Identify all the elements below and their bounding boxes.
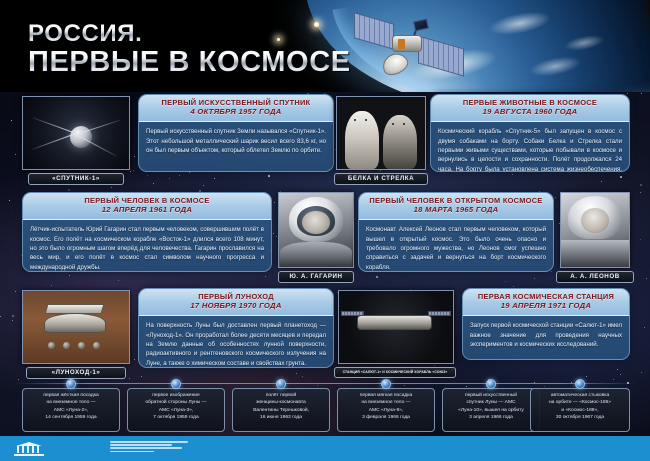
panel-header: ПЕРВЫЙ ЧЕЛОВЕК В ОТКРЫТОМ КОСМОСЕ 18 МАР…: [359, 193, 553, 220]
dog-eye-icon: [365, 119, 367, 121]
dog-belka-icon: [345, 111, 379, 169]
rover-wheel-icon: [48, 342, 55, 349]
timeline-line-1: первая жёсткая посадка: [25, 392, 117, 399]
panel-date: 18 МАРТА 1965 ГОДА: [365, 205, 547, 215]
timeline-marker-icon: [575, 379, 585, 389]
panel-title: ПЕРВЫЙ ЛУНОХОД: [145, 292, 327, 301]
rover-wheel-icon: [63, 342, 70, 349]
imprint-line: [110, 444, 172, 446]
panel-title: ПЕРВЫЙ ЧЕЛОВЕК В ОТКРЫТОМ КОСМОСЕ: [365, 196, 547, 205]
imprint-line: [110, 447, 182, 449]
timeline-card: автоматическая стыковка на орбите — «Кос…: [530, 388, 630, 432]
panel-title: ПЕРВЫЙ ИСКУССТВЕННЫЙ СПУТНИК: [145, 98, 327, 107]
timeline-line-2: обратной стороны Луны —: [130, 399, 222, 406]
panel-date: 12 АПРЕЛЯ 1961 ГОДА: [29, 205, 265, 215]
logo-column: [27, 446, 29, 453]
panel-title: ПЕРВЫЙ ЧЕЛОВЕК В КОСМОСЕ: [29, 196, 265, 205]
spacesuit-icon: [280, 242, 351, 267]
panel-sputnik: ПЕРВЫЙ ИСКУССТВЕННЫЙ СПУТНИК 4 ОКТЯБРЯ 1…: [138, 94, 334, 172]
timeline-line-1: автоматическая стыковка: [533, 392, 627, 399]
imprint-line: [110, 451, 154, 453]
timeline-marker-icon: [381, 379, 391, 389]
panel-header: ПЕРВЫЙ ЧЕЛОВЕК В КОСМОСЕ 12 АПРЕЛЯ 1961 …: [23, 193, 271, 220]
panel-text: Запуск первой космической станции «Салют…: [463, 316, 629, 355]
photo-dogs: [336, 96, 426, 170]
caption-dogs: БЕЛКА И СТРЕЛКА: [334, 173, 428, 185]
timeline-line-3: АМС «Луна-3»,: [130, 407, 222, 414]
timeline-line-1: полёт первой: [235, 392, 327, 399]
imprint-line: [110, 441, 188, 443]
timeline-strip: первая жёсткая посадка на внеземное тело…: [0, 378, 650, 436]
panel-animals: ПЕРВЫЕ ЖИВОТНЫЕ В КОСМОСЕ 19 АВГУСТА 196…: [430, 94, 630, 172]
station-body-icon: [357, 315, 432, 329]
timeline-item[interactable]: первая мягкая посадка на внеземное тело …: [337, 388, 435, 432]
sputnik-illustration: [23, 97, 129, 169]
photo-lunokhod: [22, 290, 130, 364]
logo-column: [22, 446, 24, 453]
timeline-line-3: «Луна-10», вышел на орбиту: [445, 407, 537, 414]
panel-text: Первый искусственный спутник Земли назыв…: [139, 122, 333, 161]
rover-wheel-icon: [93, 342, 100, 349]
timeline-item[interactable]: первый искусственный спутник Луны — АМС …: [442, 388, 540, 432]
photo-leonov: [560, 192, 630, 268]
salyut-illustration: [339, 291, 453, 363]
panel-text: Космический корабль «Спутник-5» был запу…: [431, 122, 629, 172]
poster-header: РОССИЯ. ПЕРВЫЕ В КОСМОСЕ: [0, 0, 650, 92]
timeline-card: первая мягкая посадка на внеземное тело …: [337, 388, 435, 432]
publisher-imprint-text: [110, 441, 188, 454]
gagarin-portrait: [279, 193, 353, 267]
page-title: РОССИЯ. ПЕРВЫЕ В КОСМОСЕ: [28, 22, 351, 78]
satellite-sensor-icon: [413, 19, 429, 32]
photo-sputnik: [22, 96, 130, 170]
panel-lunokhod: ПЕРВЫЙ ЛУНОХОД 17 НОЯБРЯ 1970 ГОДА На по…: [138, 288, 334, 368]
spacesuit-icon: [561, 240, 629, 267]
timeline-marker-icon: [486, 379, 496, 389]
panel-header: ПЕРВАЯ КОСМИЧЕСКАЯ СТАНЦИЯ 19 АПРЕЛЯ 197…: [463, 289, 629, 316]
timeline-line-3: АМС «Луна-2»,: [25, 407, 117, 414]
timeline-marker-icon: [171, 379, 181, 389]
timeline-line-4: 3 апреля 1966 года: [445, 414, 537, 421]
timeline-line-2: спутник Луны — АМС: [445, 399, 537, 406]
timeline-line-4: 30 октября 1967 года: [533, 414, 627, 421]
panel-title: ПЕРВЫЕ ЖИВОТНЫЕ В КОСМОСЕ: [437, 98, 623, 107]
timeline-line-3: Валентины Терешковой,: [235, 407, 327, 414]
timeline-card: первый искусственный спутник Луны — АМС …: [442, 388, 540, 432]
logo-column: [17, 446, 19, 453]
rover-wheel-icon: [78, 342, 85, 349]
panel-leonov: ПЕРВЫЙ ЧЕЛОВЕК В ОТКРЫТОМ КОСМОСЕ 18 МАР…: [358, 192, 554, 272]
timeline-item[interactable]: полёт первой женщины-космонавта Валентин…: [232, 388, 330, 432]
panel-header: ПЕРВЫЙ ИСКУССТВЕННЫЙ СПУТНИК 4 ОКТЯБРЯ 1…: [139, 95, 333, 122]
timeline-marker-icon: [276, 379, 286, 389]
panel-gagarin: ПЕРВЫЙ ЧЕЛОВЕК В КОСМОСЕ 12 АПРЕЛЯ 1961 …: [22, 192, 272, 272]
timeline-line-3: и «Космос-188»,: [533, 407, 627, 414]
timeline-line-3: АМС «Луна-9»,: [340, 407, 432, 414]
solar-panel-left-icon: [354, 12, 394, 49]
logo-column: [32, 446, 34, 453]
panel-header: ПЕРВЫЙ ЛУНОХОД 17 НОЯБРЯ 1970 ГОДА: [139, 289, 333, 316]
caption-salyut: СТАНЦИЯ «САЛЮТ-1» И КОСМИЧЕСКИЙ КОРАБЛЬ …: [334, 367, 456, 378]
panel-header: ПЕРВЫЕ ЖИВОТНЫЕ В КОСМОСЕ 19 АВГУСТА 196…: [431, 95, 629, 122]
rover-body-icon: [44, 313, 105, 333]
station-solar-wing-icon: [428, 311, 451, 316]
publisher-logo-icon: [14, 441, 44, 456]
dog-eye-icon: [403, 123, 405, 125]
panel-date: 19 АВГУСТА 1960 ГОДА: [437, 107, 623, 117]
satellite-image: [352, 10, 482, 88]
timeline-line-4: 14 сентября 1959 года: [25, 414, 117, 421]
panel-text: Лётчик-испытатель Юрий Гагарин стал перв…: [23, 220, 271, 272]
timeline-line-2: на внеземное тело —: [340, 399, 432, 406]
solar-panel-right-icon: [418, 35, 464, 76]
caption-leonov: А. А. ЛЕОНОВ: [556, 271, 634, 283]
antenna-icon: [33, 118, 77, 135]
panel-text: Космонавт Алексей Леонов стал первым чел…: [359, 220, 553, 272]
poster-footer: [0, 436, 650, 461]
panel-station: ПЕРВАЯ КОСМИЧЕСКАЯ СТАНЦИЯ 19 АПРЕЛЯ 197…: [462, 288, 630, 360]
logo-base: [14, 454, 44, 456]
timeline-marker-icon: [66, 379, 76, 389]
timeline-line-4: 16 июня 1963 года: [235, 414, 327, 421]
poster-canvas: РОССИЯ. ПЕРВЫЕ В КОСМОСЕ «СПУТНИК-1» ПЕР…: [0, 0, 650, 461]
antenna-icon: [32, 133, 76, 150]
photo-salyut: [338, 290, 454, 364]
caption-gagarin: Ю. А. ГАГАРИН: [278, 271, 354, 283]
timeline-line-4: 7 октября 1959 года: [130, 414, 222, 421]
timeline-card: первое изображение обратной стороны Луны…: [127, 388, 225, 432]
timeline-card: полёт первой женщины-космонавта Валентин…: [232, 388, 330, 432]
timeline-line-2: на внеземное тело —: [25, 399, 117, 406]
face-icon: [581, 208, 610, 233]
satellite-dish-icon: [379, 49, 411, 78]
timeline-item[interactable]: автоматическая стыковка на орбите — «Кос…: [530, 388, 630, 432]
leonov-portrait: [561, 193, 629, 267]
timeline-item[interactable]: первое изображение обратной стороны Луны…: [127, 388, 225, 432]
panel-title: ПЕРВАЯ КОСМИЧЕСКАЯ СТАНЦИЯ: [469, 292, 623, 301]
panel-text: На поверхность Луны был доставлен первый…: [139, 316, 333, 368]
lunokhod-illustration: [23, 291, 129, 363]
timeline-line-1: первая мягкая посадка: [340, 392, 432, 399]
dog-strelka-icon: [383, 115, 417, 169]
timeline-item[interactable]: первая жёсткая посадка на внеземное тело…: [22, 388, 120, 432]
panel-date: 17 НОЯБРЯ 1970 ГОДА: [145, 301, 327, 311]
title-line-1: РОССИЯ.: [28, 22, 351, 47]
timeline-connector-line: [14, 383, 636, 384]
dog-eye-icon: [354, 119, 356, 121]
timeline-line-4: 3 февраля 1966 года: [340, 414, 432, 421]
photo-gagarin: [278, 192, 354, 268]
panel-date: 4 ОКТЯБРЯ 1957 ГОДА: [145, 107, 327, 117]
caption-sputnik: «СПУТНИК-1»: [28, 173, 124, 185]
dog-eye-icon: [392, 123, 394, 125]
timeline-line-2: женщины-космонавта: [235, 399, 327, 406]
panel-date: 19 АПРЕЛЯ 1971 ГОДА: [469, 301, 623, 311]
timeline-line-1: первое изображение: [130, 392, 222, 399]
satellite-body-icon: [392, 35, 422, 52]
dogs-illustration: [337, 97, 425, 169]
timeline-card: первая жёсткая посадка на внеземное тело…: [22, 388, 120, 432]
timeline-line-2: на орбите — «Космос-186»: [533, 399, 627, 406]
title-line-2: ПЕРВЫЕ В КОСМОСЕ: [28, 48, 351, 78]
timeline-line-1: первый искусственный: [445, 392, 537, 399]
logo-column: [37, 446, 39, 453]
